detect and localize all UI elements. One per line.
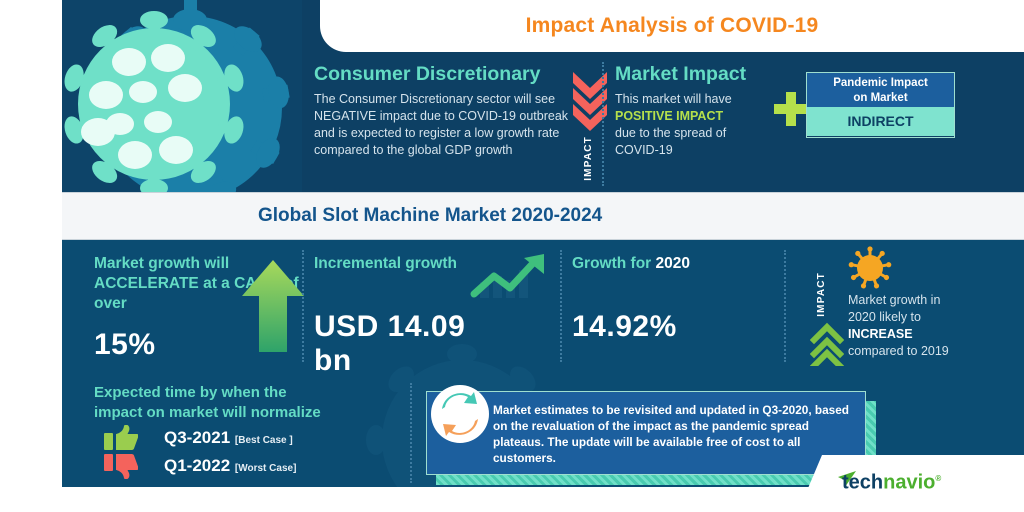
consumer-discretionary-body: The Consumer Discretionary sector will s… bbox=[314, 91, 572, 159]
consumer-discretionary-title: Consumer Discretionary bbox=[314, 63, 572, 86]
arrow-up-icon bbox=[242, 260, 304, 352]
pandemic-badge-heading-line1: Pandemic Impact bbox=[833, 77, 928, 89]
note-box: Market estimates to be revisited and upd… bbox=[426, 391, 866, 475]
page-title: Impact Analysis of COVID-19 bbox=[320, 0, 1024, 52]
market-impact-title: Market Impact bbox=[615, 63, 780, 86]
pandemic-badge-value: INDIRECT bbox=[807, 107, 954, 136]
note-text: Market estimates to be revisited and upd… bbox=[493, 402, 853, 466]
case-best-period: Q3-2021 bbox=[164, 428, 230, 447]
impact-right-line3: compared to 2019 bbox=[848, 344, 949, 358]
pandemic-badge-heading: Pandemic Impact on Market bbox=[807, 73, 954, 107]
case-best: Q3-2021 [Best Case ] bbox=[104, 425, 138, 451]
normalize-title: Expected time by when the impact on mark… bbox=[94, 383, 364, 423]
impact-right-line1: Market growth in bbox=[848, 293, 940, 307]
metric-growth-2020-label: Growth for 2020 bbox=[572, 254, 792, 274]
case-worst-label: [Worst Case] bbox=[235, 463, 297, 474]
divider-dotted-1 bbox=[602, 62, 604, 186]
divider-dotted-3 bbox=[560, 250, 562, 362]
plus-icon bbox=[774, 92, 808, 126]
metric-incremental-value: USD 14.09 bn bbox=[314, 310, 499, 378]
consumer-discretionary-block: Consumer Discretionary The Consumer Disc… bbox=[314, 63, 572, 159]
divider-dotted-5 bbox=[410, 383, 412, 483]
logo-text-navio: navio bbox=[883, 472, 935, 494]
impact-right-text: Market growth in 2020 likely to INCREASE… bbox=[848, 292, 1018, 360]
metric-growth-2020-label-white: 2020 bbox=[656, 255, 690, 272]
case-worst: Q1-2022 [Worst Case] bbox=[104, 453, 138, 479]
title-banner: Impact Analysis of COVID-19 bbox=[320, 0, 1024, 52]
impact-indicator-negative: IMPACT bbox=[567, 70, 613, 185]
chevron-up-icon bbox=[810, 320, 844, 366]
case-worst-text: Q1-2022 [Worst Case] bbox=[164, 453, 296, 479]
impact-right-label-vertical: IMPACT bbox=[816, 272, 827, 317]
divider-dotted-2 bbox=[302, 250, 304, 362]
metrics-row: Market growth will ACCELERATE at a CAGR … bbox=[62, 238, 1024, 373]
infographic-canvas: Impact Analysis of COVID-19 Consumer Dis… bbox=[0, 0, 1024, 512]
case-best-label: [Best Case ] bbox=[235, 435, 293, 446]
market-impact-block: Market Impact This market will have POSI… bbox=[615, 63, 780, 159]
pandemic-badge-heading-line2: on Market bbox=[853, 92, 907, 104]
metric-growth-2020-label-mint: Growth for bbox=[572, 255, 656, 272]
logo-text-tech: tech bbox=[842, 472, 883, 494]
impact-right-highlight: INCREASE bbox=[848, 327, 913, 341]
virus-icon bbox=[848, 246, 892, 290]
market-impact-line3: COVID-19 bbox=[615, 143, 673, 157]
thumbs-down-icon bbox=[104, 453, 138, 479]
market-impact-line1: This market will have bbox=[615, 92, 732, 106]
market-impact-line2: due to the spread of bbox=[615, 126, 726, 140]
logo-registered-mark: ® bbox=[935, 474, 941, 483]
normalize-title-line1: Expected time by when the bbox=[94, 384, 287, 401]
main-panel: Impact Analysis of COVID-19 Consumer Dis… bbox=[62, 0, 1024, 487]
trend-up-icon bbox=[466, 252, 548, 302]
chevron-down-icon bbox=[567, 70, 613, 132]
impact-right-line2: 2020 likely to bbox=[848, 310, 921, 324]
thumbs-up-icon bbox=[104, 425, 138, 451]
case-worst-period: Q1-2022 bbox=[164, 456, 230, 475]
market-name-title: Global Slot Machine Market 2020-2024 bbox=[258, 193, 602, 239]
refresh-icon bbox=[431, 385, 489, 443]
divider-dotted-4 bbox=[784, 250, 786, 362]
technavio-logo: technavio® bbox=[842, 467, 941, 491]
market-name-banner: Global Slot Machine Market 2020-2024 bbox=[62, 192, 1024, 240]
impact-label-vertical: IMPACT bbox=[583, 136, 594, 181]
impact-right-block: IMPACT Market growth in 2020 likely to I… bbox=[804, 244, 1019, 369]
metric-growth-2020-value: 14.92% bbox=[572, 310, 792, 344]
metric-growth-2020: Growth for 2020 14.92% bbox=[572, 254, 792, 344]
pandemic-impact-badge: Pandemic Impact on Market INDIRECT bbox=[806, 72, 955, 138]
market-impact-highlight: POSITIVE IMPACT bbox=[615, 109, 723, 123]
normalize-title-line2: impact on market will normalize bbox=[94, 404, 321, 421]
case-best-text: Q3-2021 [Best Case ] bbox=[164, 425, 293, 451]
